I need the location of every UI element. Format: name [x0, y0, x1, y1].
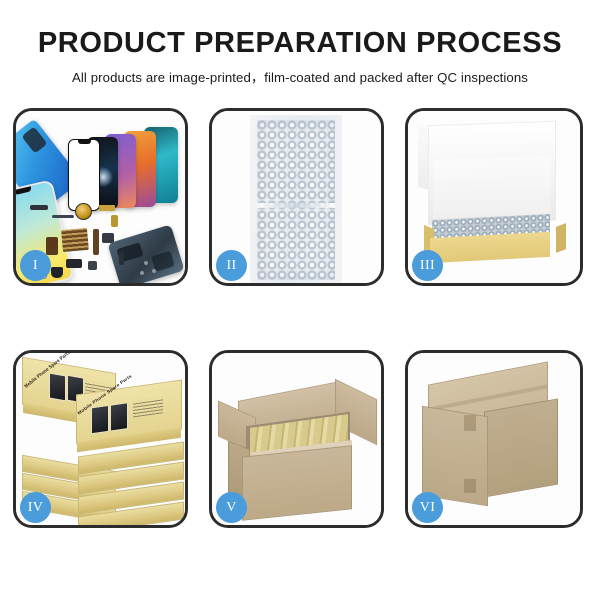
- carton-tab: [464, 479, 476, 493]
- phone-screen-white: [68, 139, 100, 211]
- step-badge-5: V: [216, 492, 247, 523]
- steps-grid: I II III: [13, 108, 587, 528]
- step-panel-6: VI: [405, 350, 583, 528]
- box-screen-image: [91, 405, 109, 435]
- copper-shield-part: [46, 237, 58, 255]
- step-panel-2: II: [209, 108, 384, 286]
- flex-cable-part: [30, 205, 48, 210]
- step-badge-4: IV: [20, 492, 51, 523]
- foam-lid: [428, 121, 556, 225]
- step-badge-1: I: [20, 250, 51, 281]
- vibrator-part: [66, 259, 82, 268]
- speaker-part: [51, 267, 63, 278]
- gold-connector-part: [99, 205, 115, 211]
- box-right-side: [556, 223, 566, 253]
- long-flex-part: [93, 229, 99, 255]
- step-panel-1: I: [13, 108, 188, 286]
- header: PRODUCT PREPARATION PROCESS All products…: [0, 0, 600, 86]
- step-badge-2: II: [216, 250, 247, 281]
- bubble-wrap-bubbles: [257, 120, 335, 280]
- step-panel-5: V: [209, 350, 384, 528]
- screw-part: [140, 271, 144, 275]
- ribbon-cable-part: [52, 215, 74, 218]
- product-preparation-infographic: PRODUCT PREPARATION PROCESS All products…: [0, 0, 600, 600]
- screw-part: [144, 261, 148, 265]
- screw-part: [152, 269, 156, 273]
- small-chip-part: [88, 261, 97, 270]
- box-screen-image: [110, 402, 128, 432]
- page-subtitle: All products are image-printed，film-coat…: [0, 67, 600, 86]
- camera-module-part: [102, 233, 114, 243]
- carton-front-face: [422, 406, 488, 506]
- carton-tab: [464, 415, 476, 431]
- bubble-wrap-seam: [257, 203, 335, 208]
- side-button-part: [119, 251, 124, 265]
- gold-bracket-part: [111, 215, 118, 227]
- step-badge-3: III: [412, 250, 443, 281]
- speaker-coil-part: [75, 203, 92, 220]
- kraft-box-front: [430, 232, 550, 263]
- box-screen-image: [49, 372, 66, 401]
- phone-screen-fan: [56, 129, 176, 215]
- carton-front-face: [242, 445, 352, 521]
- step-badge-6: VI: [412, 492, 443, 523]
- page-title: PRODUCT PREPARATION PROCESS: [0, 28, 600, 58]
- chip-grid-part: [61, 228, 89, 252]
- step-panel-4: Mobile Phone Spare Parts Mobile Phone Sp…: [13, 350, 188, 528]
- carton-side-face: [484, 398, 558, 497]
- step-panel-3: III: [405, 108, 583, 286]
